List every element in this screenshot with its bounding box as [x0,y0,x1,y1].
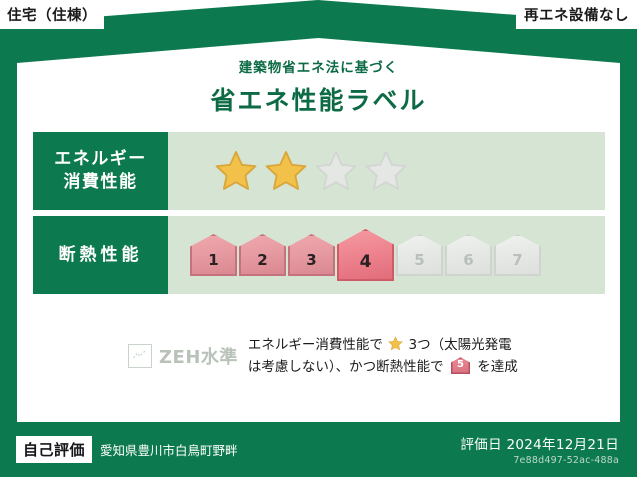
insulation-level-4: 4 [337,229,394,281]
insulation-performance-row: 断熱性能 1234567 [33,216,605,294]
energy-consumption-row: エネルギー 消費性能 [33,132,605,210]
insulation-level-number: 3 [306,251,316,276]
insulation-level-badge-inline: 5 [451,357,470,374]
checkbox-unchecked-icon [128,344,152,368]
insulation-level-number: 1 [208,251,218,276]
property-address: 愛知県豊川市白鳥町野畔 [100,440,238,459]
zeh-desc-line2-pre: は考慮しない）、かつ断熱性能で [248,359,444,375]
zeh-description: エネルギー消費性能で 3つ（太陽光発電 は考慮しない）、かつ断熱性能で 5 を達… [248,334,518,379]
insulation-level-5: 5 [396,234,443,276]
ratings-section: エネルギー 消費性能 断熱性能 1234567 [33,132,605,300]
zeh-desc-line1-pre: エネルギー消費性能で [248,337,383,353]
insulation-level-number: 6 [463,251,473,276]
footer-left: 自己評価 愛知県豊川市白鳥町野畔 [16,436,238,463]
insulation-level-group: 1234567 [168,216,605,294]
insulation-level-6: 6 [445,234,492,276]
zeh-desc-line2-post: を達成 [477,359,518,375]
energy-consumption-label: エネルギー 消費性能 [33,132,168,210]
evaluation-date: 評価日 2024年12月21日 [460,433,619,453]
insulation-level-1: 1 [190,234,237,276]
renewable-equipment-label: 再エネ設備なし [524,4,629,25]
insulation-level-7: 7 [494,234,541,276]
evaluation-type-badge: 自己評価 [16,436,92,463]
star-icon-filled [263,149,309,193]
insulation-level-number: 4 [360,252,372,281]
label-subtitle: 建築物省エネ法に基づく [0,56,637,76]
star-icon-empty [363,149,409,193]
star-icon-filled [213,149,259,193]
insulation-level-number: 2 [257,251,267,276]
insulation-level-3: 3 [288,234,335,276]
energy-label-line2: 消費性能 [54,171,147,194]
insulation-level-badge-number: 5 [451,357,470,374]
label-title-block: 建築物省エネ法に基づく 省エネ性能ラベル [0,56,637,117]
insulation-level-2: 2 [239,234,286,276]
building-type-tab: 住宅（住棟） [0,0,104,29]
zeh-desc-line1-post: 3つ（太陽光発電 [409,337,512,353]
renewable-equipment-tab: 再エネ設備なし [516,0,637,29]
zeh-badge: ZEH水準 [128,343,238,369]
zeh-standard-note: ZEH水準 エネルギー消費性能で 3つ（太陽光発電 は考慮しない）、かつ断熱性能… [128,334,518,379]
insulation-level-number: 7 [512,251,522,276]
insulation-level-number: 5 [414,251,424,276]
footer-bar: 自己評価 愛知県豊川市白鳥町野畔 評価日 2024年12月21日 7e88d49… [0,422,637,477]
star-icon-empty [313,149,359,193]
building-type-label: 住宅（住棟） [7,4,97,25]
insulation-performance-label: 断熱性能 [33,216,168,294]
energy-label-line1: エネルギー [54,148,147,171]
zeh-badge-label: ZEH水準 [159,343,238,369]
star-rating-group [168,132,605,210]
label-main-title: 省エネ性能ラベル [0,81,637,117]
evaluation-id: 7e88d497-52ac-488a [460,455,619,466]
star-icon-inline [388,336,403,351]
energy-performance-label: 住宅（住棟） 再エネ設備なし 建築物省エネ法に基づく 省エネ性能ラベル エネルギ… [0,0,637,477]
footer-right: 評価日 2024年12月21日 7e88d497-52ac-488a [460,433,619,466]
